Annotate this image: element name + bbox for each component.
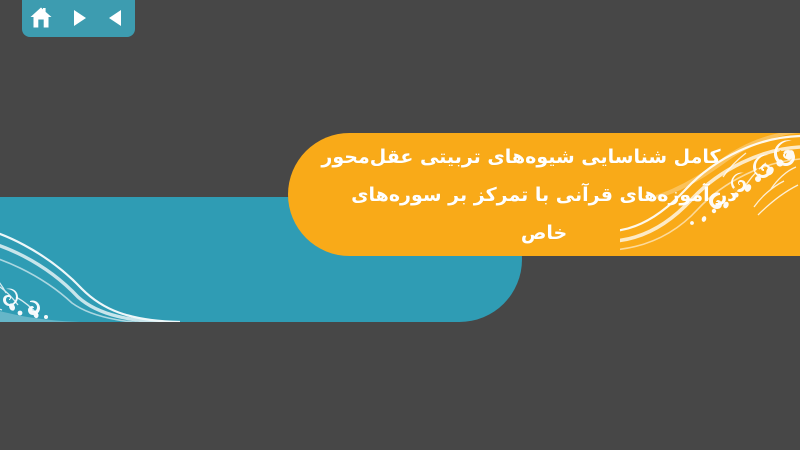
arabesque-corner-ornament-teal [0, 197, 180, 322]
arabesque-corner-ornament-yellow [620, 133, 800, 256]
home-icon [29, 6, 53, 30]
yellow-title-band [288, 133, 800, 256]
triangle-right-icon [68, 7, 90, 29]
triangle-left-icon [105, 7, 127, 29]
home-button[interactable] [28, 5, 54, 31]
previous-button[interactable] [103, 5, 129, 31]
navigation-toolbar [22, 0, 135, 37]
presentation-slide: کامل شناسایی شیوه‌های تربیتی عقل‌محور در… [0, 0, 800, 450]
next-button[interactable] [66, 5, 92, 31]
